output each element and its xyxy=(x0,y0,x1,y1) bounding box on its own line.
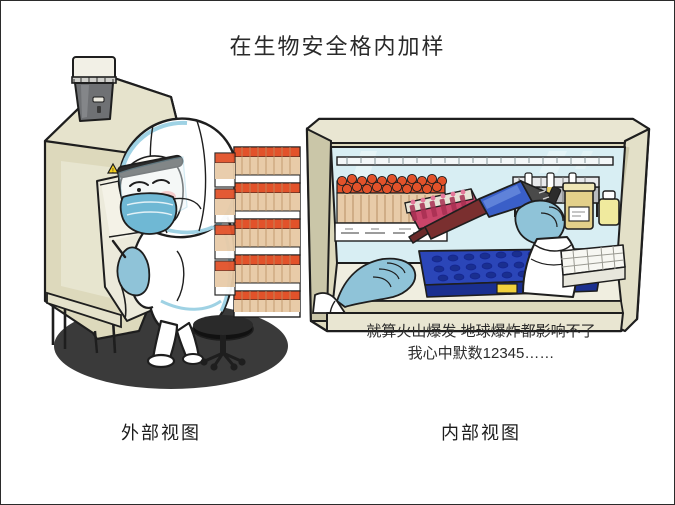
internal-view-illustration xyxy=(307,119,649,331)
caption-line-1: 就算火山爆发 地球爆炸都影响不了 xyxy=(331,321,631,343)
external-view-label: 外部视图 xyxy=(81,419,241,445)
caption-text: 就算火山爆发 地球爆炸都影响不了 我心中默数12345…… xyxy=(331,321,631,365)
illustration-page: ! xyxy=(0,0,675,505)
reagent-jar xyxy=(563,183,595,229)
rack-label xyxy=(497,284,517,293)
internal-view-label: 内部视图 xyxy=(401,419,561,445)
tube-rack-stack xyxy=(215,147,300,317)
hepa-filter-housing xyxy=(72,57,116,121)
caption-line-2: 我心中默数12345…… xyxy=(331,343,631,365)
grid-tray xyxy=(561,245,625,287)
page-title: 在生物安全格内加样 xyxy=(1,29,674,61)
